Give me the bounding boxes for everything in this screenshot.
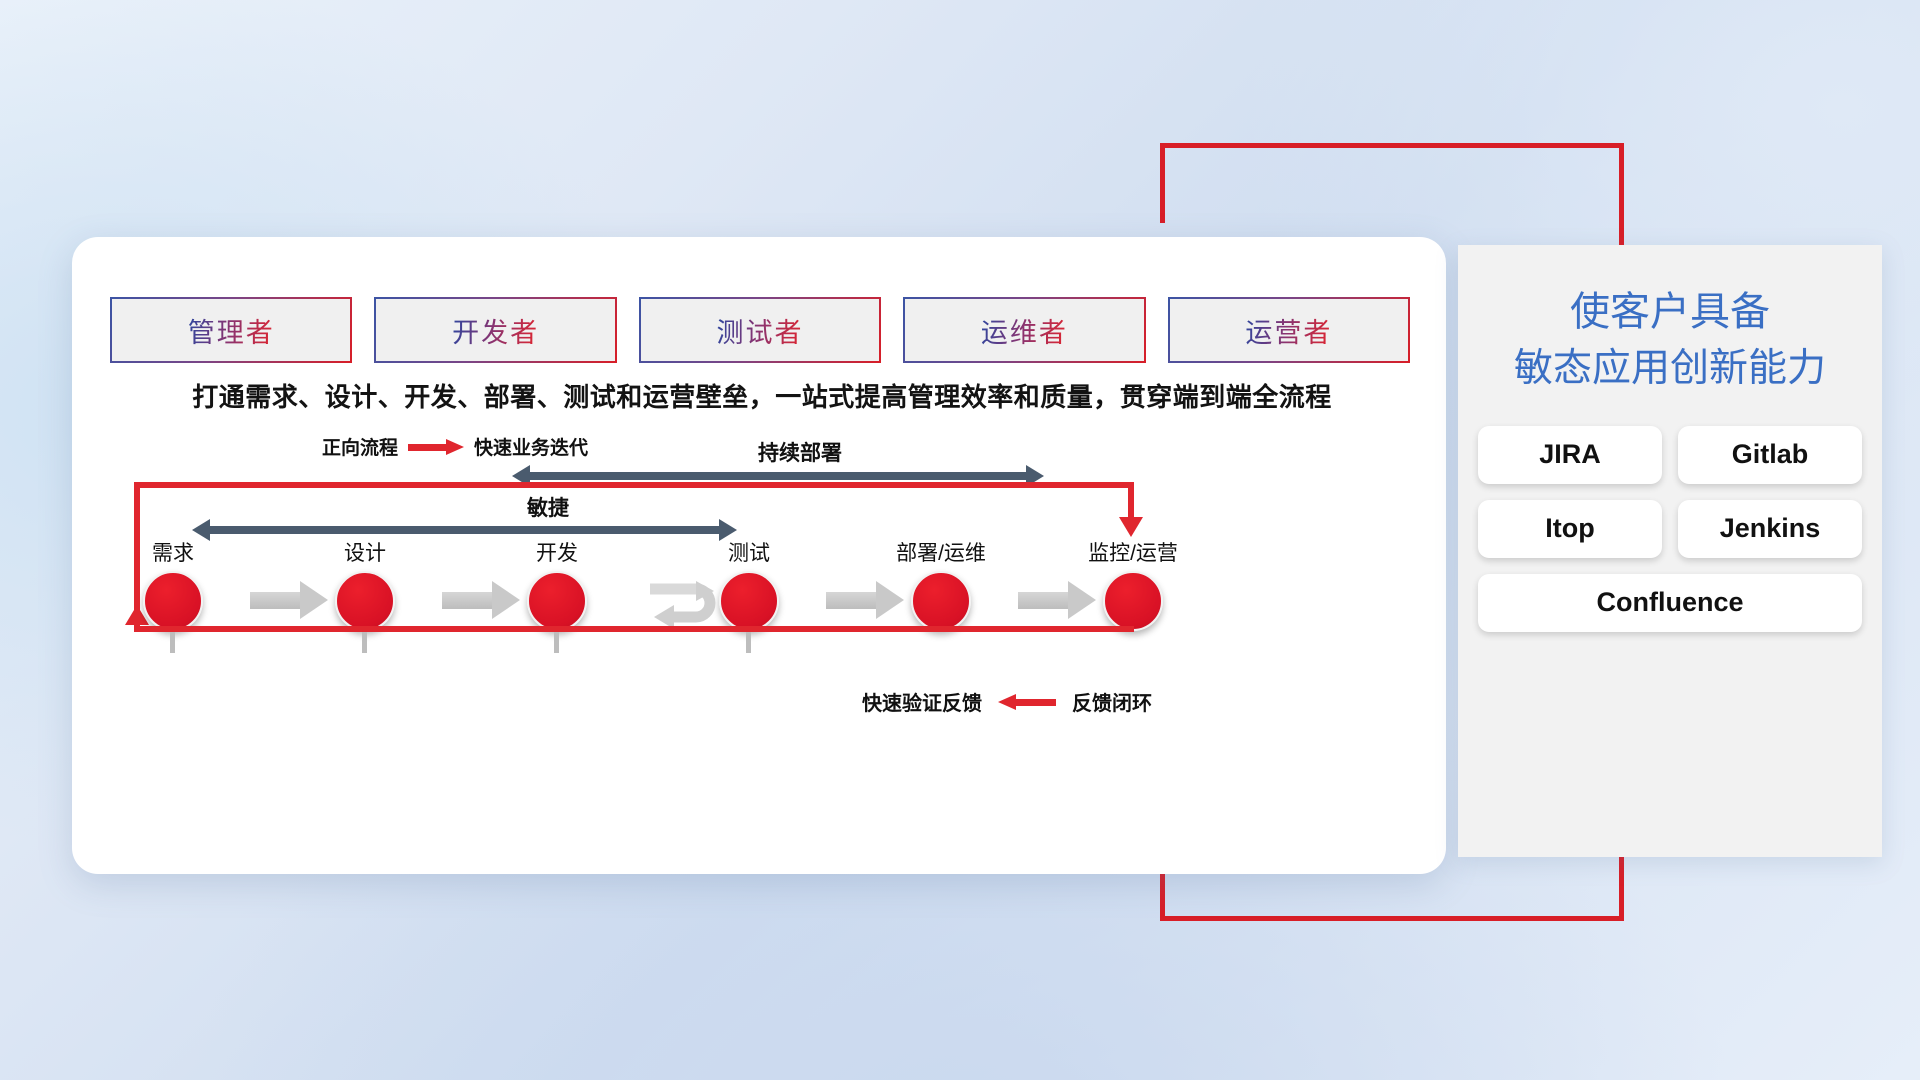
tool-chip-jenkins[interactable]: Jenkins xyxy=(1678,500,1862,558)
role-label: 测试者 xyxy=(717,311,804,350)
tools-list: JIRA Gitlab Itop Jenkins Confluence xyxy=(1478,426,1862,632)
loop-back-arrow-icon xyxy=(648,575,732,633)
legend-feedback-result-label: 快速验证反馈 xyxy=(862,687,982,716)
stage-label: 设计 xyxy=(300,537,430,567)
role-label: 开发者 xyxy=(452,311,539,350)
role-label: 运营者 xyxy=(1245,311,1332,350)
pipeline-stage-development[interactable]: 开发 xyxy=(492,537,622,631)
stage-label: 需求 xyxy=(108,537,238,567)
role-box-business-operator[interactable]: 运营者 xyxy=(1168,297,1410,363)
legend-feedback-loop-label: 反馈闭环 xyxy=(1072,687,1152,716)
loop-line-right xyxy=(1128,482,1134,522)
stage-dot-icon xyxy=(911,571,971,631)
panel-title-line1: 使客户具备 xyxy=(1570,290,1770,334)
stage-dot-icon xyxy=(527,571,587,631)
pipeline-row: 需求 设计 开发 测试 部署/运维 xyxy=(108,537,1178,657)
loop-line-bottom xyxy=(134,626,1134,632)
tool-chip-gitlab[interactable]: Gitlab xyxy=(1678,426,1862,484)
legend-continuous-deployment-label: 持续部署 xyxy=(758,437,842,467)
connector-frame-top xyxy=(1160,143,1624,148)
role-box-row: 管理者 开发者 测试者 运维者 运营者 xyxy=(110,297,1410,363)
pipeline-stage-requirements[interactable]: 需求 xyxy=(108,537,238,631)
tools-panel: 使客户具备 敏态应用创新能力 JIRA Gitlab Itop Jenkins … xyxy=(1458,245,1882,857)
pipeline-stage-design[interactable]: 设计 xyxy=(300,537,430,631)
legend-forward-flow-label: 正向流程 xyxy=(322,433,398,460)
stage-label: 部署/运维 xyxy=(876,537,1006,567)
role-label: 运维者 xyxy=(981,311,1068,350)
legend-forward-result-label: 快速业务迭代 xyxy=(474,433,588,460)
legend-forward-flow: 正向流程 快速业务迭代 xyxy=(322,433,588,460)
tool-chip-itop[interactable]: Itop xyxy=(1478,500,1662,558)
stage-label: 测试 xyxy=(684,537,814,567)
stage-label: 开发 xyxy=(492,537,622,567)
role-box-developer[interactable]: 开发者 xyxy=(374,297,616,363)
pipeline-stage-deploy-ops[interactable]: 部署/运维 xyxy=(876,537,1006,631)
role-label: 管理者 xyxy=(188,311,275,350)
role-box-tester[interactable]: 测试者 xyxy=(639,297,881,363)
tool-chip-jira[interactable]: JIRA xyxy=(1478,426,1662,484)
connector-frame-left xyxy=(1160,143,1165,223)
connector-frame-bottom xyxy=(1160,916,1624,921)
loop-line-left xyxy=(134,482,140,632)
role-box-operations-maintenance[interactable]: 运维者 xyxy=(903,297,1145,363)
loop-line-top xyxy=(134,482,1134,488)
tool-chip-confluence[interactable]: Confluence xyxy=(1478,574,1862,632)
stage-dot-icon xyxy=(1103,571,1163,631)
legend-agile-label: 敏捷 xyxy=(527,492,569,522)
arrow-left-red-icon xyxy=(998,694,1056,710)
legend-feedback: 快速验证反馈 反馈闭环 xyxy=(862,687,1152,716)
panel-title-line2: 敏态应用创新能力 xyxy=(1458,341,1882,398)
pipeline-stage-monitor-operate[interactable]: 监控/运营 xyxy=(1068,537,1198,631)
stage-dot-icon xyxy=(143,571,203,631)
arrow-right-red-icon xyxy=(408,439,464,455)
stage-label: 监控/运营 xyxy=(1068,537,1198,567)
description-text: 打通需求、设计、开发、部署、测试和运营壁垒，一站式提高管理效率和质量，贯穿端到端… xyxy=(122,377,1402,414)
panel-title: 使客户具备 敏态应用创新能力 xyxy=(1458,283,1882,398)
main-diagram-card: 管理者 开发者 测试者 运维者 运营者 打通需求、设计、开发、部署、测试和运营壁… xyxy=(72,237,1446,874)
stage-dot-icon xyxy=(335,571,395,631)
role-box-manager[interactable]: 管理者 xyxy=(110,297,352,363)
